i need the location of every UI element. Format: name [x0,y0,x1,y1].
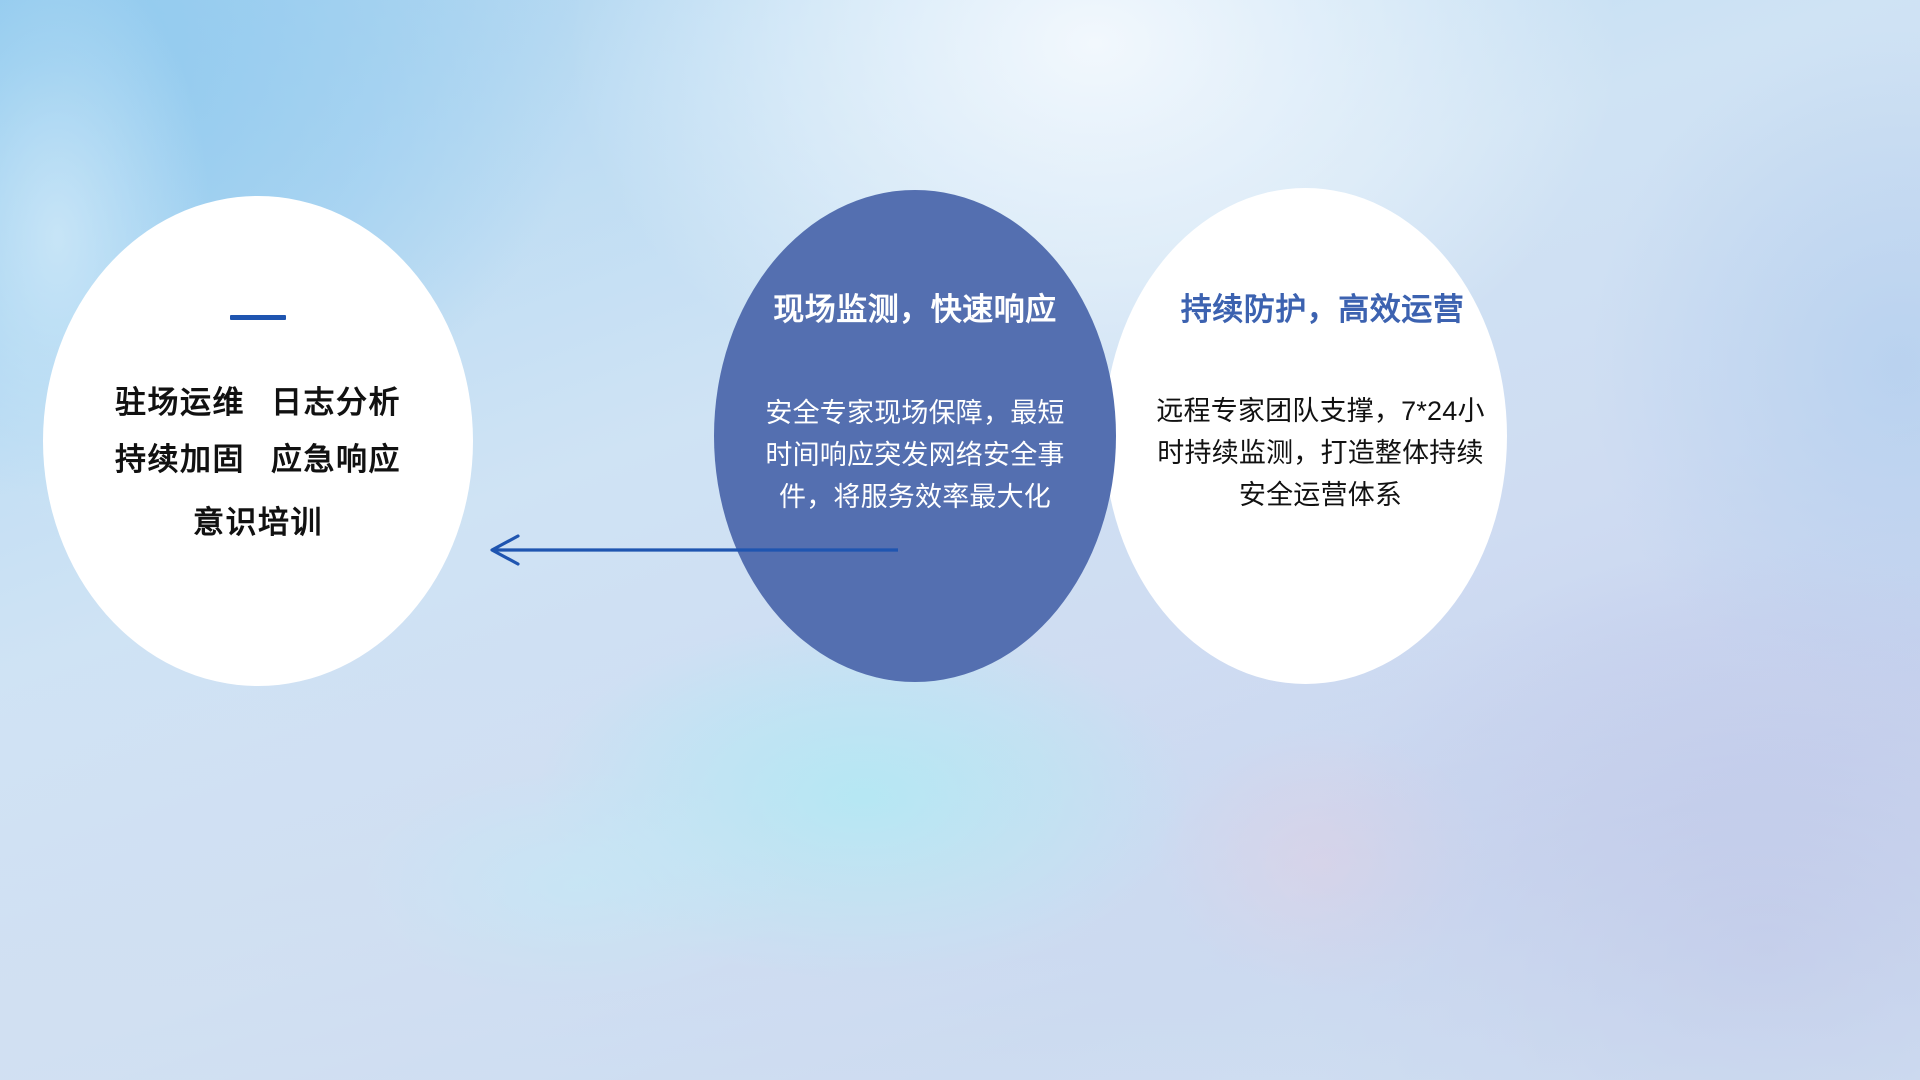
left-card-divider [230,315,286,320]
right-card-body: 远程专家团队支撑，7*24小时持续监测，打造整体持续安全运营体系 [1146,391,1496,517]
left-card-tag-zhuchangyunwei: 驻场运维 [115,385,245,420]
center-card-body: 安全专家现场保障，最短时间响应突发网络安全事件，将服务效率最大化 [765,393,1065,519]
left-card-tag-rizhifenxi: 日志分析 [271,385,401,420]
left-card-tag-yishipeixun: 意识培训 [193,505,323,540]
center-card-content: 现场监测，快速响应 安全专家现场保障，最短时间响应突发网络安全事件，将服务效率最… [714,190,1116,682]
right-card-title: 持续防护，高效运营 [1181,294,1465,325]
slide-canvas: 驻场运维日志分析 持续加固应急响应 意识培训 现场监测，快速响应 安全专家现场保… [0,0,1920,1080]
left-card-line-3: 意识培训 [193,507,323,538]
left-card-line-1: 驻场运维日志分析 [115,387,401,418]
center-card-title: 现场监测，快速响应 [773,294,1057,325]
left-card-tag-chixujiagu: 持续加固 [115,442,245,477]
left-card-content: 驻场运维日志分析 持续加固应急响应 意识培训 [43,196,473,686]
left-card-tag-yingjixiangying: 应急响应 [271,442,401,477]
right-card-content: 持续防护，高效运营 远程专家团队支撑，7*24小时持续监测，打造整体持续安全运营… [1104,188,1507,684]
left-card-line-2: 持续加固应急响应 [115,444,401,475]
